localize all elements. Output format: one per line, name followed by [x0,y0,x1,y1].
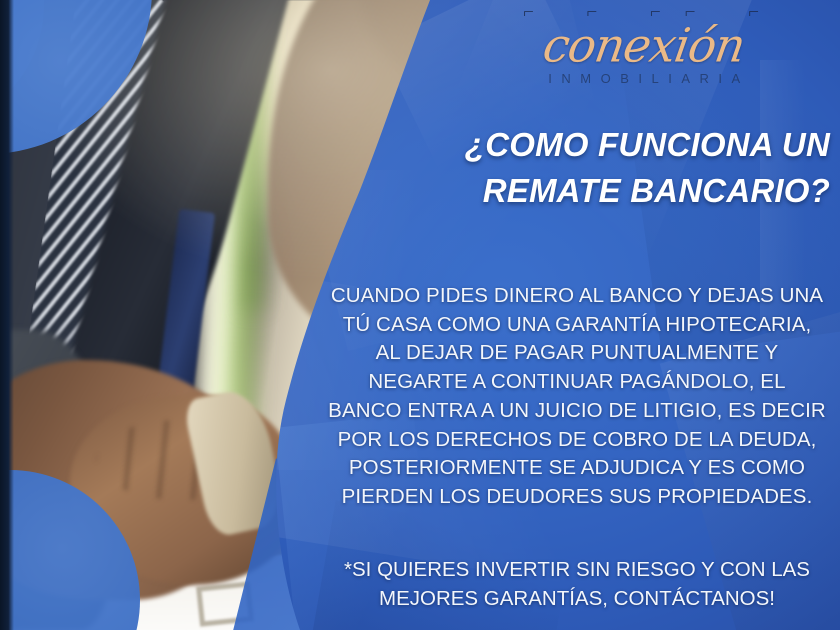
poster-canvas: ⌐ ⌐ ⌐⌐ ⌐ conexión INMOBILIARIA ¿COMO FUN… [0,0,840,630]
body-line-6: POR LOS DERECHOS DE COBRO DE LA DEUDA, [316,426,838,455]
cta-line-1: *SI QUIERES INVERTIR SIN RIESGO Y CON LA… [316,556,838,585]
body-line-5: BANCO ENTRA A UN JUICIO DE LITIGIO, ES D… [316,397,838,426]
body-line-3: AL DEJAR DE PAGAR PUNTUALMENTE Y [316,339,838,368]
cta-line-2: MEJORES GARANTÍAS, CONTÁCTANOS! [316,585,838,614]
cta-text: *SI QUIERES INVERTIR SIN RIESGO Y CON LA… [316,556,838,613]
logo-wordmark: conexión [456,22,831,69]
body-text: CUANDO PIDES DINERO AL BANCO Y DEJAS UNA… [316,282,838,512]
body-line-1: CUANDO PIDES DINERO AL BANCO Y DEJAS UNA [316,282,838,311]
page-title: ¿COMO FUNCIONA UN REMATE BANCARIO? [352,122,830,214]
decor-dark-left-edge [0,0,14,630]
logo-tagline: INMOBILIARIA [460,71,828,86]
brand-logo: ⌐ ⌐ ⌐⌐ ⌐ conexión INMOBILIARIA [460,4,828,86]
headline-line-2: REMATE BANCARIO? [352,168,830,214]
headline-line-1: ¿COMO FUNCIONA UN [465,126,830,163]
body-line-7: POSTERIORMENTE SE ADJUDICA Y ES COMO [316,454,838,483]
body-line-4: NEGARTE A CONTINUAR PAGÁNDOLO, EL [316,368,838,397]
body-line-2: TÚ CASA COMO UNA GARANTÍA HIPOTECARIA, [316,311,838,340]
body-line-8: PIERDEN LOS DEUDORES SUS PROPIEDADES. [316,483,838,512]
